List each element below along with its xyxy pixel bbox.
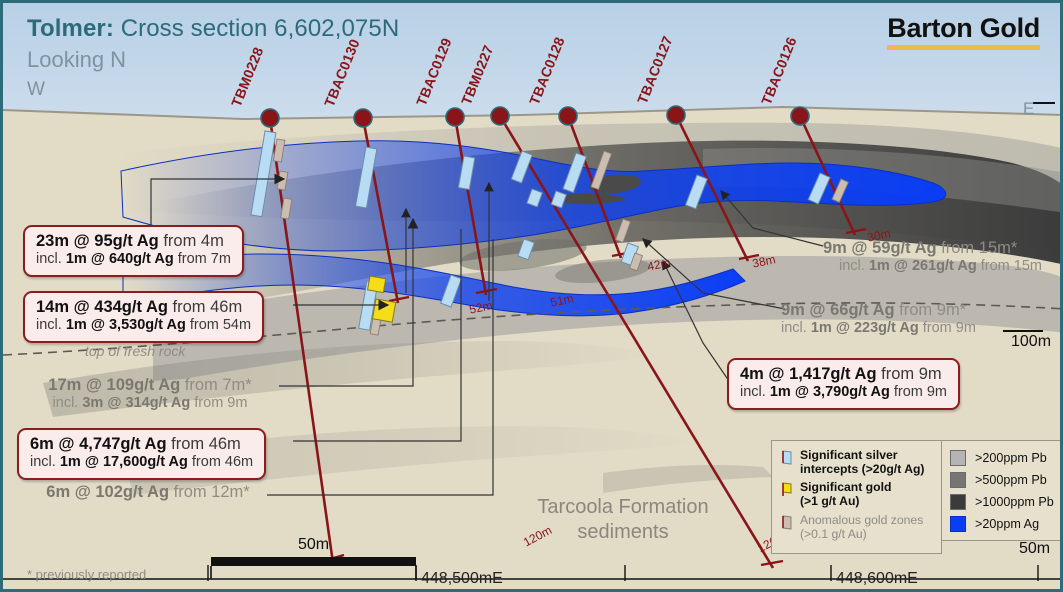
swatch-ag20-icon — [950, 516, 966, 532]
callout-6-pre: incl. — [839, 258, 869, 274]
formation-label: Tarcoola Formation sediments — [503, 495, 743, 545]
swatch-ag20-label: >20ppm Ag — [975, 517, 1039, 531]
intercept-text-6: 9m @ 59g/t Ag from 15m* incl. 1m @ 261g/… — [823, 239, 1053, 276]
swatch-pb500-icon — [950, 472, 966, 488]
callout-1-incl-rest: from 7m — [174, 251, 231, 267]
callout-4-bold: 6m @ 4,747g/t Ag — [30, 435, 167, 453]
intercept-callout-8: 4m @ 1,417g/t Ag from 9m incl. 1m @ 3,79… — [727, 358, 960, 410]
intercept-callout-4: 6m @ 4,747g/t Ag from 46m incl. 1m @ 17,… — [17, 428, 266, 480]
callout-6-rest: from 15m* — [937, 239, 1018, 257]
view-direction-label: Looking N — [27, 47, 126, 73]
callout-1-bold: 23m @ 95g/t Ag — [36, 232, 159, 250]
footnote: * previously reported — [27, 567, 146, 582]
legend-swatch-row: >200ppm Pb — [950, 450, 1060, 466]
title-bold: Tolmer: — [27, 15, 114, 42]
legend-silver-line1: Significant silver — [800, 448, 898, 462]
legend-swatch-row: >20ppm Ag — [950, 516, 1060, 532]
callout-2-incl-bold: 1m @ 3,530g/t Ag — [66, 317, 186, 333]
horizontal-scale-label: 50m — [211, 536, 416, 554]
west-label: W — [27, 79, 45, 101]
axis-tick-label-448500: 448,500mE — [421, 570, 503, 588]
axis-tick-label-448600: 448,600mE — [836, 570, 918, 588]
callout-3-incl-bold: 3m @ 314g/t Ag — [82, 395, 190, 411]
formation-line-2: sediments — [503, 520, 743, 545]
brand-logo: Barton Gold — [887, 13, 1040, 50]
callout-1-rest: from 4m — [159, 232, 224, 250]
cross-section-figure: Tolmer: Cross section 6,602,075N Looking… — [0, 0, 1063, 592]
brand-underline — [887, 45, 1040, 50]
callout-2-rest: from 46m — [168, 298, 242, 316]
legend-item-anomalous: Anomalous gold zones (>0.1 g/t Au) — [780, 513, 932, 541]
callout-8-rest: from 9m — [877, 365, 942, 383]
top-of-fresh-rock-label: top of fresh rock — [85, 343, 185, 359]
swatch-pb200-icon — [950, 450, 966, 466]
legend-anomalous-line1: Anomalous gold zones — [800, 513, 923, 527]
intercept-text-7: 9m @ 66g/t Ag from 9m* incl. 1m @ 223g/t… — [781, 301, 1011, 338]
callout-4-incl-rest: from 46m — [188, 454, 253, 470]
legend-silver-line2: intercepts (>20g/t Ag) — [800, 462, 925, 476]
callout-3-rest: from 7m* — [180, 376, 252, 394]
formation-line-1: Tarcoola Formation — [503, 495, 743, 520]
legend-swatches: >200ppm Pb >500ppm Pb >1000ppm Pb >20ppm… — [941, 440, 1063, 541]
title-rest: Cross section 6,602,075N — [114, 15, 399, 42]
depth-scale-50m: 50m — [1019, 540, 1050, 558]
callout-2-pre: incl. — [36, 317, 66, 333]
callout-8-incl-rest: from 9m — [890, 384, 947, 400]
callout-5-rest: from 12m* — [169, 483, 250, 501]
callout-4-rest: from 46m — [167, 435, 241, 453]
callout-6-incl-bold: 1m @ 261g/t Ag — [869, 258, 977, 274]
callout-7-bold: 9m @ 66g/t Ag — [781, 301, 895, 319]
legend-swatch-row: >500ppm Pb — [950, 472, 1060, 488]
swatch-pb200-label: >200ppm Pb — [975, 451, 1047, 465]
legend-gold-line2: (>1 g/t Au) — [800, 494, 859, 508]
callout-1-incl-bold: 1m @ 640g/t Ag — [66, 251, 174, 267]
callout-4-pre: incl. — [30, 454, 60, 470]
intercept-callout-2: 14m @ 434g/t Ag from 46m incl. 1m @ 3,53… — [23, 291, 264, 343]
callout-6-bold: 9m @ 59g/t Ag — [823, 239, 937, 257]
page-title: Tolmer: Cross section 6,602,075N — [27, 15, 399, 43]
callout-7-pre: incl. — [781, 320, 811, 336]
callout-4-incl-bold: 1m @ 17,600g/t Ag — [60, 454, 188, 470]
callout-3-bold: 17m @ 109g/t Ag — [48, 376, 180, 394]
depth-scale-100m: 100m — [1011, 333, 1051, 351]
legend-symbols: Significant silver intercepts (>20g/t Ag… — [771, 440, 942, 554]
intercept-callout-1: 23m @ 95g/t Ag from 4m incl. 1m @ 640g/t… — [23, 225, 244, 277]
silver-intercept-icon — [780, 449, 795, 471]
legend-gold-line1: Significant gold — [800, 480, 891, 494]
callout-7-incl-bold: 1m @ 223g/t Ag — [811, 320, 919, 336]
callout-7-incl-rest: from 9m — [919, 320, 976, 336]
callout-1-pre: incl. — [36, 251, 66, 267]
legend-item-silver: Significant silver intercepts (>20g/t Ag… — [780, 448, 932, 476]
east-label: E — [1023, 99, 1034, 119]
swatch-pb500-label: >500ppm Pb — [975, 473, 1047, 487]
gold-intercept-icon — [780, 481, 795, 503]
legend-anomalous-line2: (>0.1 g/t Au) — [800, 527, 867, 541]
callout-5-bold: 6m @ 102g/t Ag — [46, 483, 169, 501]
legend-swatch-row: >1000ppm Pb — [950, 494, 1060, 510]
brand-name: Barton Gold — [887, 13, 1040, 44]
legend-item-gold: Significant gold (>1 g/t Au) — [780, 480, 932, 508]
swatch-pb1000-label: >1000ppm Pb — [975, 495, 1054, 509]
callout-8-incl-bold: 1m @ 3,790g/t Ag — [770, 384, 890, 400]
callout-8-pre: incl. — [740, 384, 770, 400]
anomalous-gold-icon — [780, 514, 795, 536]
callout-2-incl-rest: from 54m — [186, 317, 251, 333]
callout-7-rest: from 9m* — [895, 301, 967, 319]
intercept-text-5: 6m @ 102g/t Ag from 12m* — [23, 483, 273, 502]
callout-3-incl-rest: from 9m — [190, 395, 247, 411]
callout-8-bold: 4m @ 1,417g/t Ag — [740, 365, 877, 383]
callout-3-pre: incl. — [53, 395, 83, 411]
callout-6-incl-rest: from 15m — [977, 258, 1042, 274]
callout-2-bold: 14m @ 434g/t Ag — [36, 298, 168, 316]
swatch-pb1000-icon — [950, 494, 966, 510]
intercept-text-3: 17m @ 109g/t Ag from 7m* incl. 3m @ 314g… — [25, 376, 275, 413]
